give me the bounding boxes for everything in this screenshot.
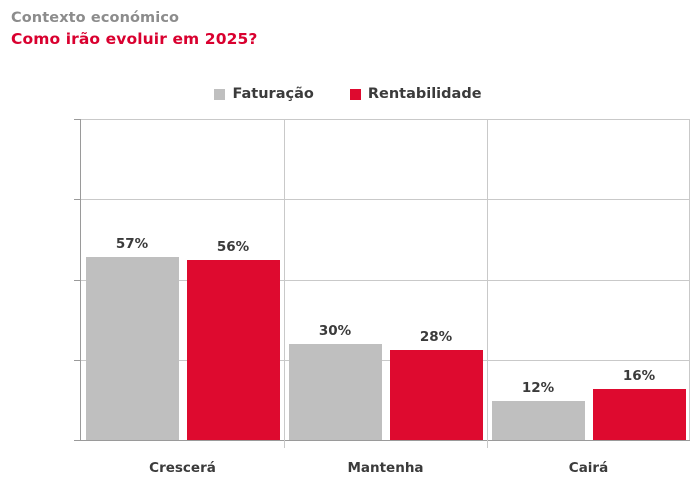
- bar-value-label: 56%: [187, 240, 280, 254]
- plot-area: 0%25%50%75%100% 57%56%30%28%12%16% Cresc…: [81, 119, 690, 440]
- kicker-text: Contexto económico: [11, 9, 611, 28]
- y-tick-mark-100: [74, 119, 81, 120]
- legend-label-faturacao: Faturação: [232, 86, 313, 102]
- legend-swatch-rentabilidade: [350, 89, 361, 100]
- category-label-2: Cairá: [487, 461, 690, 476]
- page-title: Como irão evoluir em 2025?: [11, 29, 611, 49]
- y-tick-mark-50: [74, 280, 81, 281]
- bar-rentabilidade-2[interactable]: [593, 389, 686, 440]
- bar-rentabilidade-1[interactable]: [390, 350, 483, 440]
- chart-legend: Faturação Rentabilidade: [0, 86, 696, 102]
- y-tick-mark-0: [74, 440, 81, 441]
- bar-value-label: 12%: [492, 381, 585, 395]
- bar-value-label: 28%: [390, 330, 483, 344]
- bar-rentabilidade-0[interactable]: [187, 260, 280, 440]
- bar-value-label: 30%: [289, 324, 382, 338]
- chart-header: Contexto económico Como irão evoluir em …: [11, 9, 611, 49]
- bar-faturacao-1[interactable]: [289, 344, 382, 440]
- bar-value-label: 57%: [86, 237, 179, 251]
- legend-swatch-faturacao: [214, 89, 225, 100]
- legend-item-rentabilidade[interactable]: Rentabilidade: [350, 86, 482, 102]
- bar-faturacao-2[interactable]: [492, 401, 585, 440]
- y-tick-mark-25: [74, 360, 81, 361]
- gridline-75: [81, 199, 690, 200]
- x-axis-baseline: [80, 440, 690, 441]
- legend-label-rentabilidade: Rentabilidade: [368, 86, 482, 102]
- bar-value-label: 16%: [593, 369, 686, 383]
- category-label-0: Crescerá: [81, 461, 284, 476]
- legend-item-faturacao[interactable]: Faturação: [214, 86, 313, 102]
- y-tick-mark-75: [74, 199, 81, 200]
- group-separator-1: [284, 119, 285, 448]
- bar-faturacao-0[interactable]: [86, 257, 179, 440]
- gridline-100: [81, 119, 690, 120]
- category-label-1: Mantenha: [284, 461, 487, 476]
- group-separator-2: [487, 119, 488, 448]
